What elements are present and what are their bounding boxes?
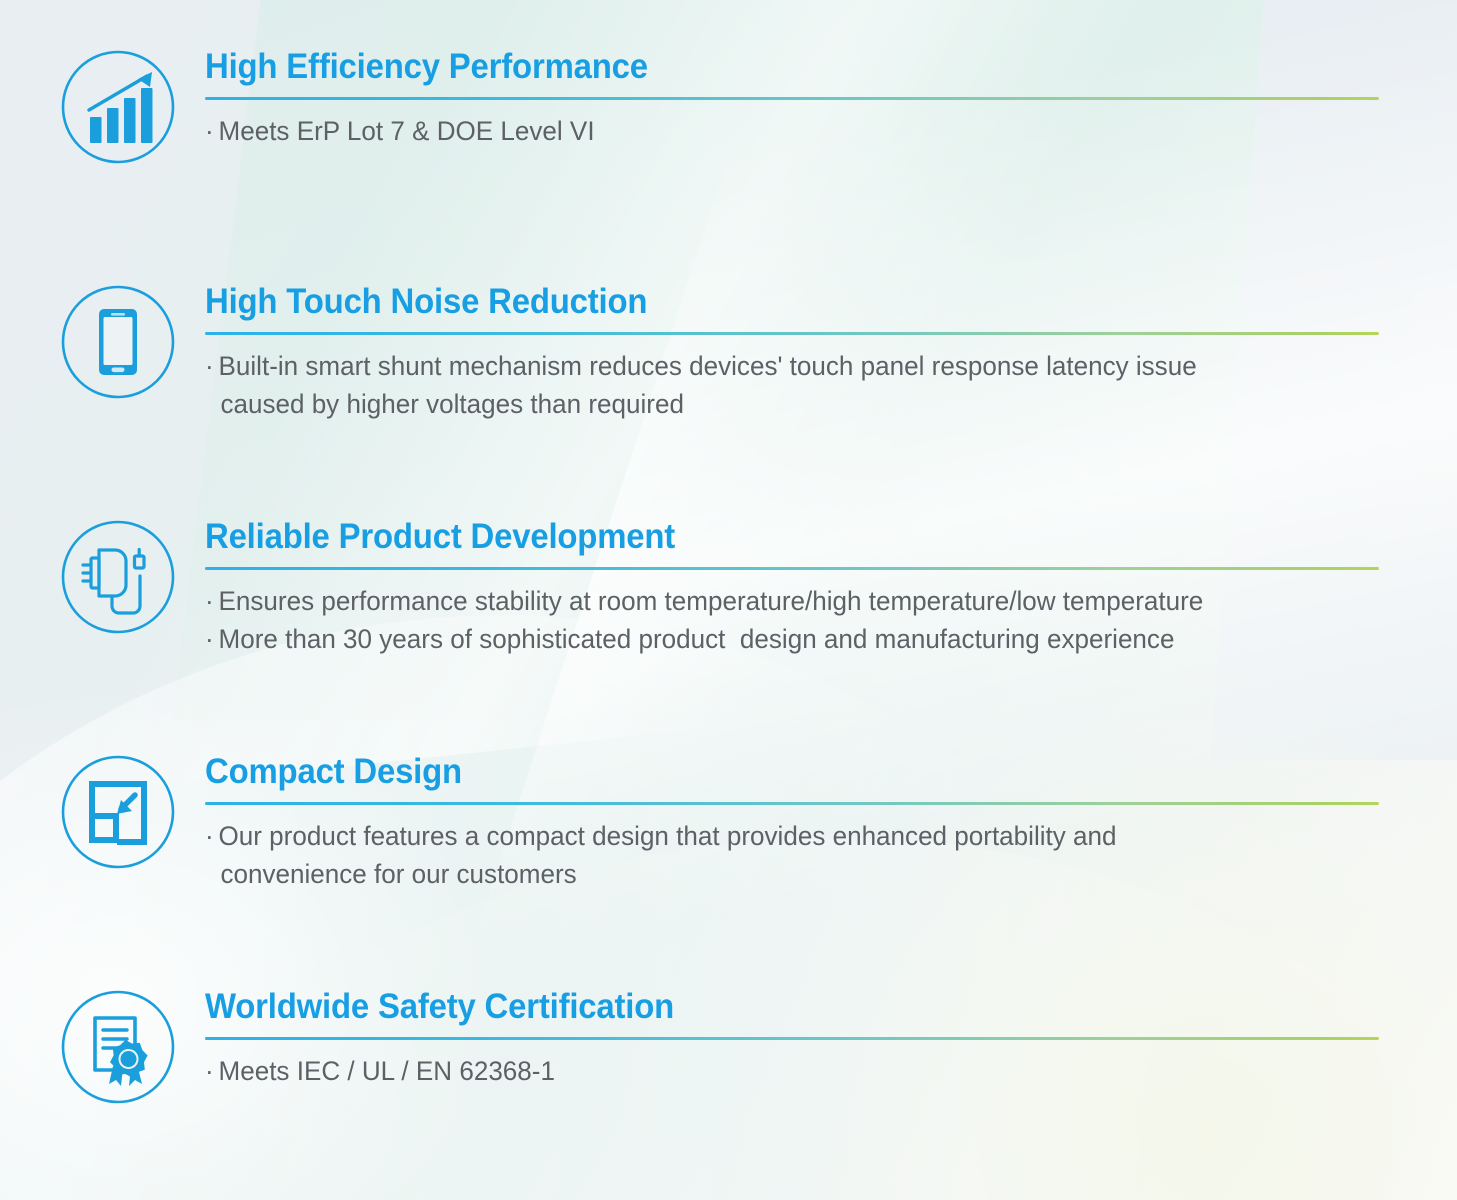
- certificate-seal-icon: [58, 988, 178, 1106]
- feature-divider: [205, 1037, 1379, 1040]
- feature-divider: [205, 97, 1379, 100]
- bullet-dot: ·: [205, 821, 214, 851]
- feature-bullet-line: ·Built-in smart shunt mechanism reduces …: [205, 347, 1338, 385]
- feature-bullet-line: ·Meets IEC / UL / EN 62368-1: [205, 1052, 1338, 1090]
- bullet-dot: ·: [205, 624, 214, 654]
- feature-bullet-list: ·Ensures performance stability at room t…: [205, 582, 1379, 659]
- feature-content: Reliable Product Development ·Ensures pe…: [205, 518, 1457, 659]
- feature-bullet-text: Meets ErP Lot 7 & DOE Level VI: [219, 116, 595, 146]
- feature-item-high-touch-noise-reduction: High Touch Noise Reduction ·Built-in sma…: [0, 283, 1457, 424]
- feature-bullet-text: convenience for our customers: [205, 855, 577, 893]
- feature-bullet-list: ·Our product features a compact design t…: [205, 817, 1379, 894]
- feature-bullet-list: ·Meets ErP Lot 7 & DOE Level VI: [205, 112, 1379, 150]
- bullet-dot: ·: [205, 116, 214, 146]
- bullet-dot: ·: [205, 586, 214, 616]
- feature-title: Worldwide Safety Certification: [205, 988, 1309, 1025]
- feature-bullet-text: Built-in smart shunt mechanism reduces d…: [219, 351, 1197, 381]
- feature-bullet-line: ·Our product features a compact design t…: [205, 817, 1338, 855]
- feature-content: High Efficiency Performance ·Meets ErP L…: [205, 48, 1457, 150]
- feature-highlights-page: High Efficiency Performance ·Meets ErP L…: [0, 0, 1457, 1200]
- feature-title: High Efficiency Performance: [205, 48, 1309, 85]
- feature-divider: [205, 802, 1379, 805]
- feature-bullet-list: ·Meets IEC / UL / EN 62368-1: [205, 1052, 1379, 1090]
- feature-divider: [205, 332, 1379, 335]
- feature-bullet-text: Our product features a compact design th…: [219, 821, 1117, 851]
- feature-content: High Touch Noise Reduction ·Built-in sma…: [205, 283, 1457, 424]
- feature-title: Reliable Product Development: [205, 518, 1309, 555]
- feature-content: Compact Design ·Our product features a c…: [205, 753, 1457, 894]
- compact-resize-icon: [58, 753, 178, 871]
- feature-bullet-text: caused by higher voltages than required: [205, 385, 684, 423]
- bullet-dot: ·: [205, 1056, 214, 1086]
- feature-bullet-list: ·Built-in smart shunt mechanism reduces …: [205, 347, 1379, 424]
- feature-item-high-efficiency-performance: High Efficiency Performance ·Meets ErP L…: [0, 48, 1457, 166]
- feature-item-worldwide-safety-certification: Worldwide Safety Certification ·Meets IE…: [0, 988, 1457, 1106]
- bullet-dot: ·: [205, 351, 214, 381]
- feature-divider: [205, 567, 1379, 570]
- power-adapter-icon: [58, 518, 178, 636]
- feature-bullet-text: More than 30 years of sophisticated prod…: [219, 624, 1175, 654]
- feature-bullet-line-continuation: caused by higher voltages than required: [205, 385, 1338, 423]
- feature-bullet-text: Ensures performance stability at room te…: [219, 586, 1204, 616]
- feature-item-compact-design: Compact Design ·Our product features a c…: [0, 753, 1457, 894]
- feature-title: Compact Design: [205, 753, 1309, 790]
- features-list: High Efficiency Performance ·Meets ErP L…: [0, 0, 1457, 1200]
- feature-bullet-text: Meets IEC / UL / EN 62368-1: [219, 1056, 555, 1086]
- feature-title: High Touch Noise Reduction: [205, 283, 1309, 320]
- growth-chart-icon: [58, 48, 178, 166]
- feature-item-reliable-product-development: Reliable Product Development ·Ensures pe…: [0, 518, 1457, 659]
- feature-content: Worldwide Safety Certification ·Meets IE…: [205, 988, 1457, 1090]
- feature-bullet-line-continuation: convenience for our customers: [205, 855, 1338, 893]
- feature-bullet-line: ·More than 30 years of sophisticated pro…: [205, 620, 1338, 658]
- smartphone-icon: [58, 283, 178, 401]
- feature-bullet-line: ·Meets ErP Lot 7 & DOE Level VI: [205, 112, 1338, 150]
- feature-bullet-line: ·Ensures performance stability at room t…: [205, 582, 1338, 620]
